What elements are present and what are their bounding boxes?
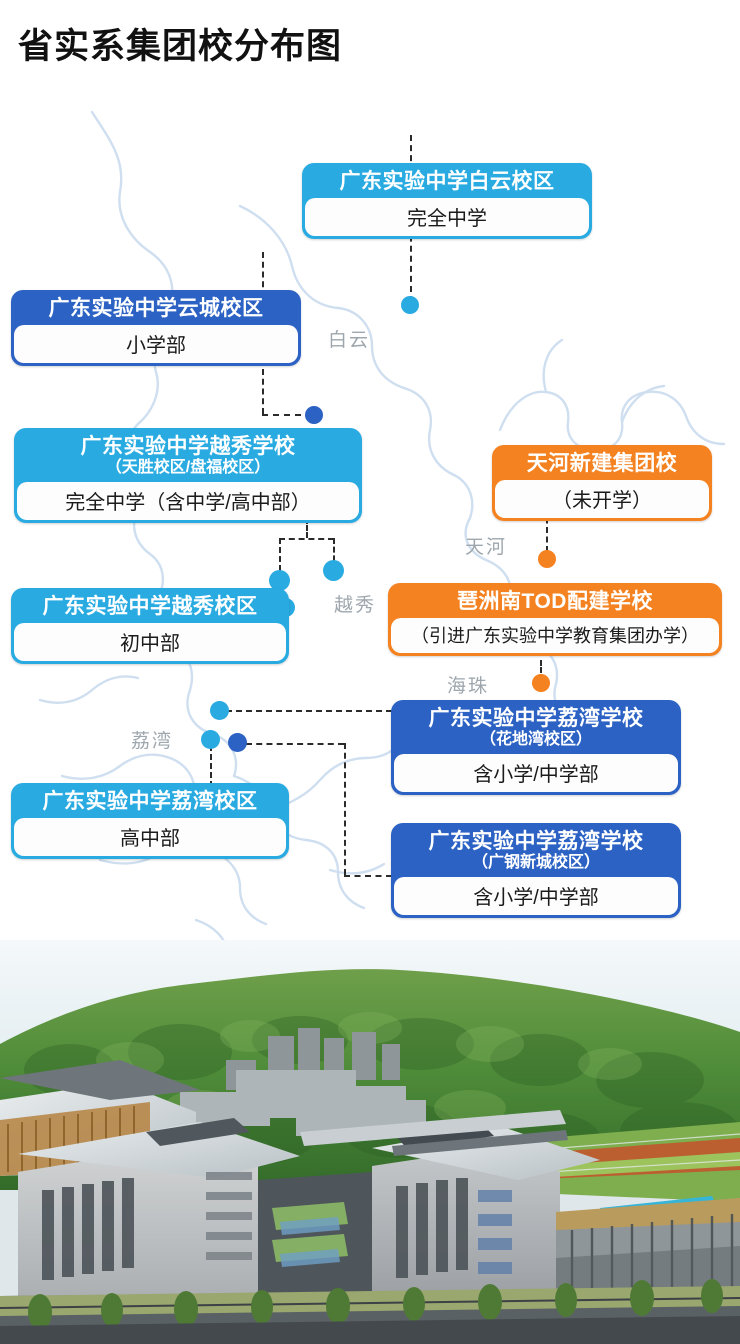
card-pazhou-tod-school[interactable]: 琶洲南TOD配建学校 （引进广东实验中学教育集团办学） xyxy=(388,583,722,656)
card-pazhou-tod-school-body: （引进广东实验中学教育集团办学） xyxy=(391,618,719,653)
card-liwan-ganggang[interactable]: 广东实验中学荔湾学校 （广钢新城校区） 含小学/中学部 xyxy=(391,823,681,918)
card-yuexiu-campus-title: 广东实验中学越秀校区 xyxy=(22,595,278,618)
card-liwan-huadiwan-subtitle: （花地湾校区） xyxy=(402,731,670,749)
card-tianhe-new-school-title: 天河新建集团校 xyxy=(503,452,701,475)
connector-liwan-ganggang-v xyxy=(344,743,346,875)
marker-tianhe-new[interactable] xyxy=(538,550,556,568)
card-tianhe-new-school-body: （未开学） xyxy=(495,480,709,518)
connector-liwan-ganggang-a xyxy=(246,743,344,745)
connector-liwan-ganggang-b xyxy=(344,875,392,877)
campus-aerial-photo xyxy=(0,940,740,1344)
district-label-liwan: 荔湾 xyxy=(131,726,173,753)
marker-liwan-ganggang[interactable] xyxy=(228,733,247,752)
card-yuexiu-campus[interactable]: 广东实验中学越秀校区 初中部 xyxy=(11,588,289,664)
card-yuncheng-campus-body: 小学部 xyxy=(14,325,298,363)
card-yuncheng-campus[interactable]: 广东实验中学云城校区 小学部 xyxy=(11,290,301,366)
marker-liwan-campus[interactable] xyxy=(201,730,220,749)
card-yuexiu-school-head: 广东实验中学越秀学校 （天胜校区/盘福校区） xyxy=(17,431,359,482)
card-pazhou-tod-school-head: 琶洲南TOD配建学校 xyxy=(391,586,719,618)
card-baiyun-campus-head: 广东实验中学白云校区 xyxy=(305,166,589,198)
card-liwan-ganggang-head: 广东实验中学荔湾学校 （广钢新城校区） xyxy=(394,826,678,877)
campus-photo-illustration xyxy=(0,940,740,1344)
card-liwan-ganggang-title: 广东实验中学荔湾学校 xyxy=(402,830,670,853)
card-yuexiu-school-title: 广东实验中学越秀学校 xyxy=(25,435,351,458)
marker-yuncheng[interactable] xyxy=(305,406,323,424)
district-label-baiyun: 白云 xyxy=(328,325,370,352)
card-pazhou-tod-school-title: 琶洲南TOD配建学校 xyxy=(399,590,711,613)
card-yuexiu-campus-body: 初中部 xyxy=(14,623,286,661)
connector-liwan-campus xyxy=(210,745,212,787)
card-liwan-campus-body: 高中部 xyxy=(14,818,286,856)
marker-pazhou-tod[interactable] xyxy=(532,674,550,692)
page-title: 省实系集团校分布图 xyxy=(18,18,342,69)
marker-yuexiu-school-b[interactable] xyxy=(323,560,344,581)
card-yuncheng-campus-head: 广东实验中学云城校区 xyxy=(14,293,298,325)
card-tianhe-new-school-head: 天河新建集团校 xyxy=(495,448,709,480)
card-liwan-huadiwan-title: 广东实验中学荔湾学校 xyxy=(402,707,670,730)
district-map: 白云 天河 越秀 海珠 荔湾 广东实验中学白云校区 完全中学 广东实验中学云城校… xyxy=(0,100,740,940)
marker-liwan-huadiwan[interactable] xyxy=(210,701,229,720)
district-label-haizhu: 海珠 xyxy=(447,671,489,698)
card-yuexiu-school[interactable]: 广东实验中学越秀学校 （天胜校区/盘福校区） 完全中学（含中学/高中部） xyxy=(14,428,362,523)
card-liwan-ganggang-subtitle: （广钢新城校区） xyxy=(402,854,670,872)
infographic-page: 省实系集团校分布图 xyxy=(0,0,740,1344)
card-yuexiu-school-subtitle: （天胜校区/盘福校区） xyxy=(25,459,351,477)
connector-yuexiu-school-bracket xyxy=(279,538,334,540)
card-liwan-huadiwan-head: 广东实验中学荔湾学校 （花地湾校区） xyxy=(394,703,678,754)
card-yuexiu-campus-head: 广东实验中学越秀校区 xyxy=(14,591,286,623)
card-baiyun-campus-title: 广东实验中学白云校区 xyxy=(313,170,581,193)
district-label-tianhe: 天河 xyxy=(465,532,507,559)
card-liwan-ganggang-body: 含小学/中学部 xyxy=(394,877,678,915)
card-baiyun-campus[interactable]: 广东实验中学白云校区 完全中学 xyxy=(302,163,592,239)
card-baiyun-campus-body: 完全中学 xyxy=(305,198,589,236)
marker-baiyun[interactable] xyxy=(401,296,419,314)
card-tianhe-new-school[interactable]: 天河新建集团校 （未开学） xyxy=(492,445,712,521)
card-yuncheng-campus-title: 广东实验中学云城校区 xyxy=(22,297,290,320)
card-liwan-campus-head: 广东实验中学荔湾校区 xyxy=(14,786,286,818)
card-liwan-huadiwan[interactable]: 广东实验中学荔湾学校 （花地湾校区） 含小学/中学部 xyxy=(391,700,681,795)
card-liwan-campus[interactable]: 广东实验中学荔湾校区 高中部 xyxy=(11,783,289,859)
card-yuexiu-school-body: 完全中学（含中学/高中部） xyxy=(17,482,359,520)
district-label-yuexiu: 越秀 xyxy=(334,590,376,617)
card-liwan-huadiwan-body: 含小学/中学部 xyxy=(394,754,678,792)
connector-liwan-huadiwan xyxy=(226,710,392,712)
card-liwan-campus-title: 广东实验中学荔湾校区 xyxy=(22,790,278,813)
